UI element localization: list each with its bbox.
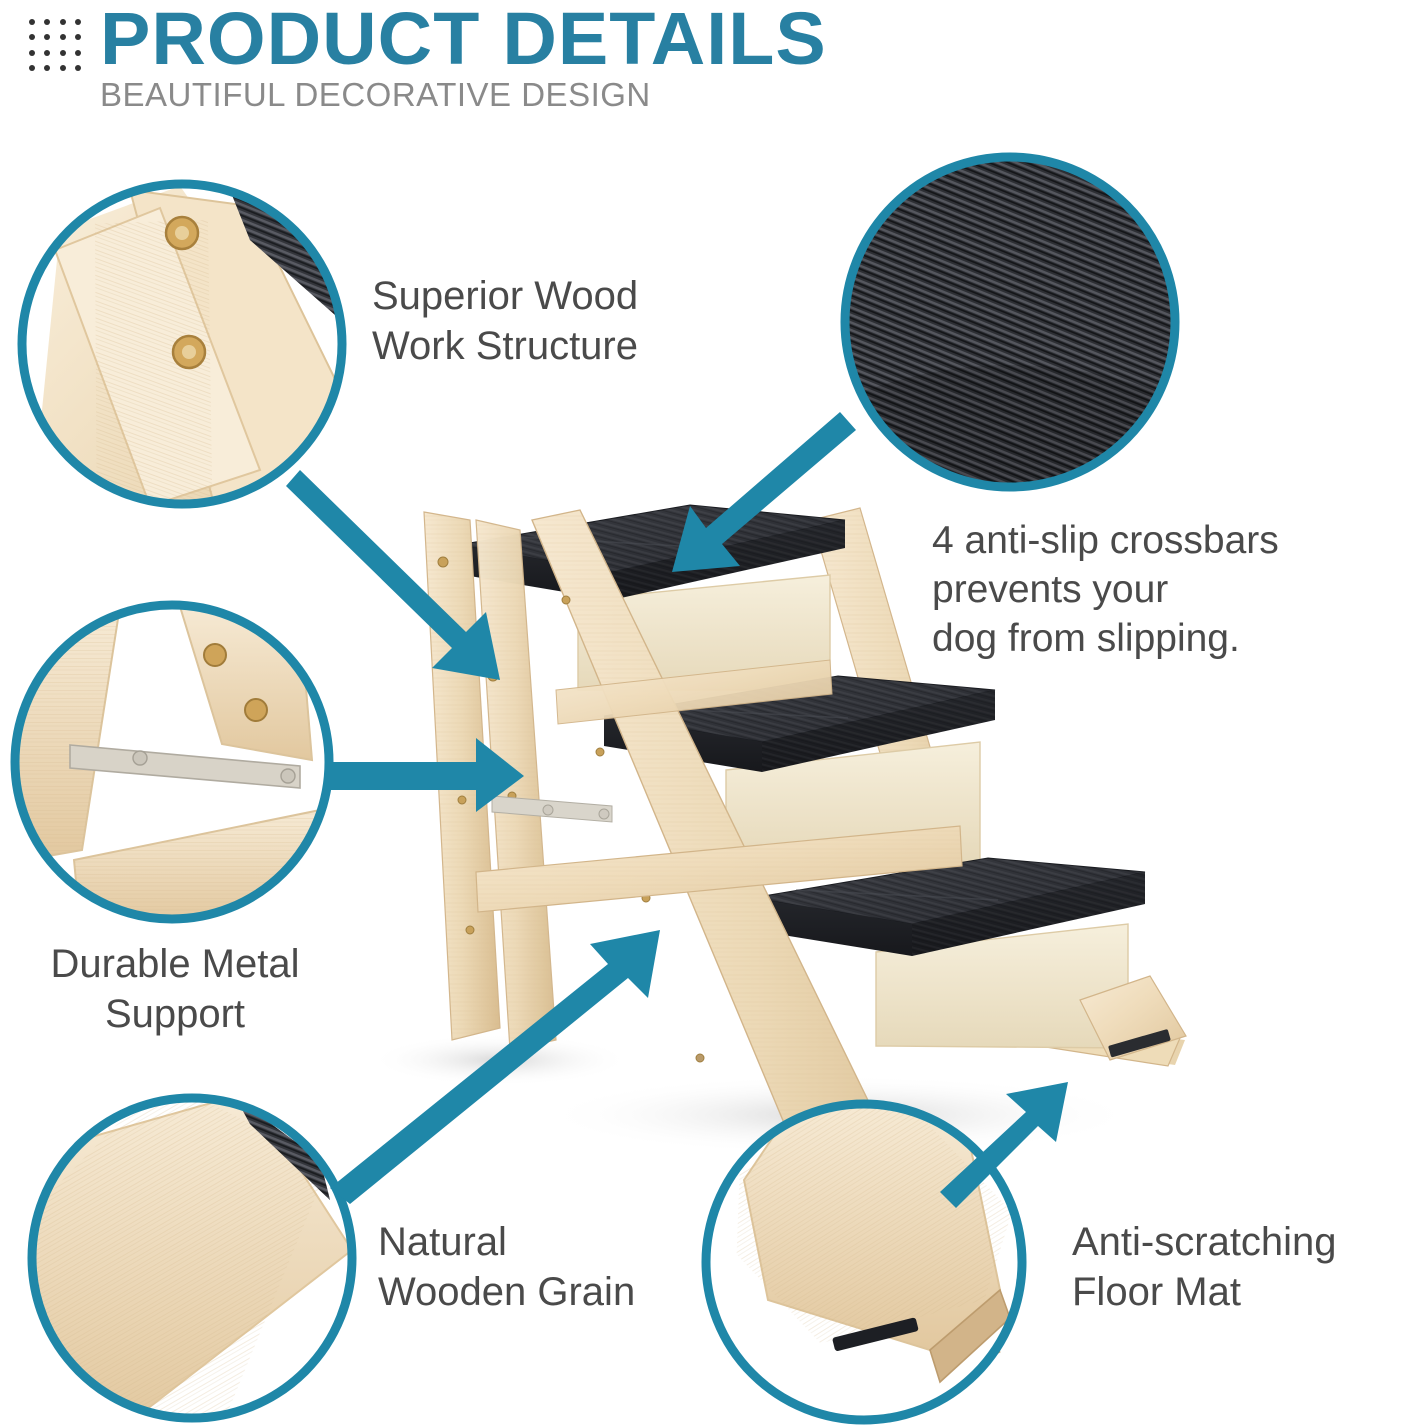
callout-circles bbox=[0, 0, 1413, 1428]
callout-circle-carpet-texture bbox=[840, 150, 1184, 500]
callout-circle-metal-brace bbox=[10, 600, 336, 924]
callout-circle-floor-mat bbox=[692, 1047, 1044, 1428]
callout-circle-wood-joint bbox=[7, 182, 360, 534]
callout-circle-wood-grain bbox=[0, 1027, 419, 1428]
product-details-infographic: PRODUCT DETAILS BEAUTIFUL DECORATIVE DES… bbox=[0, 0, 1413, 1428]
